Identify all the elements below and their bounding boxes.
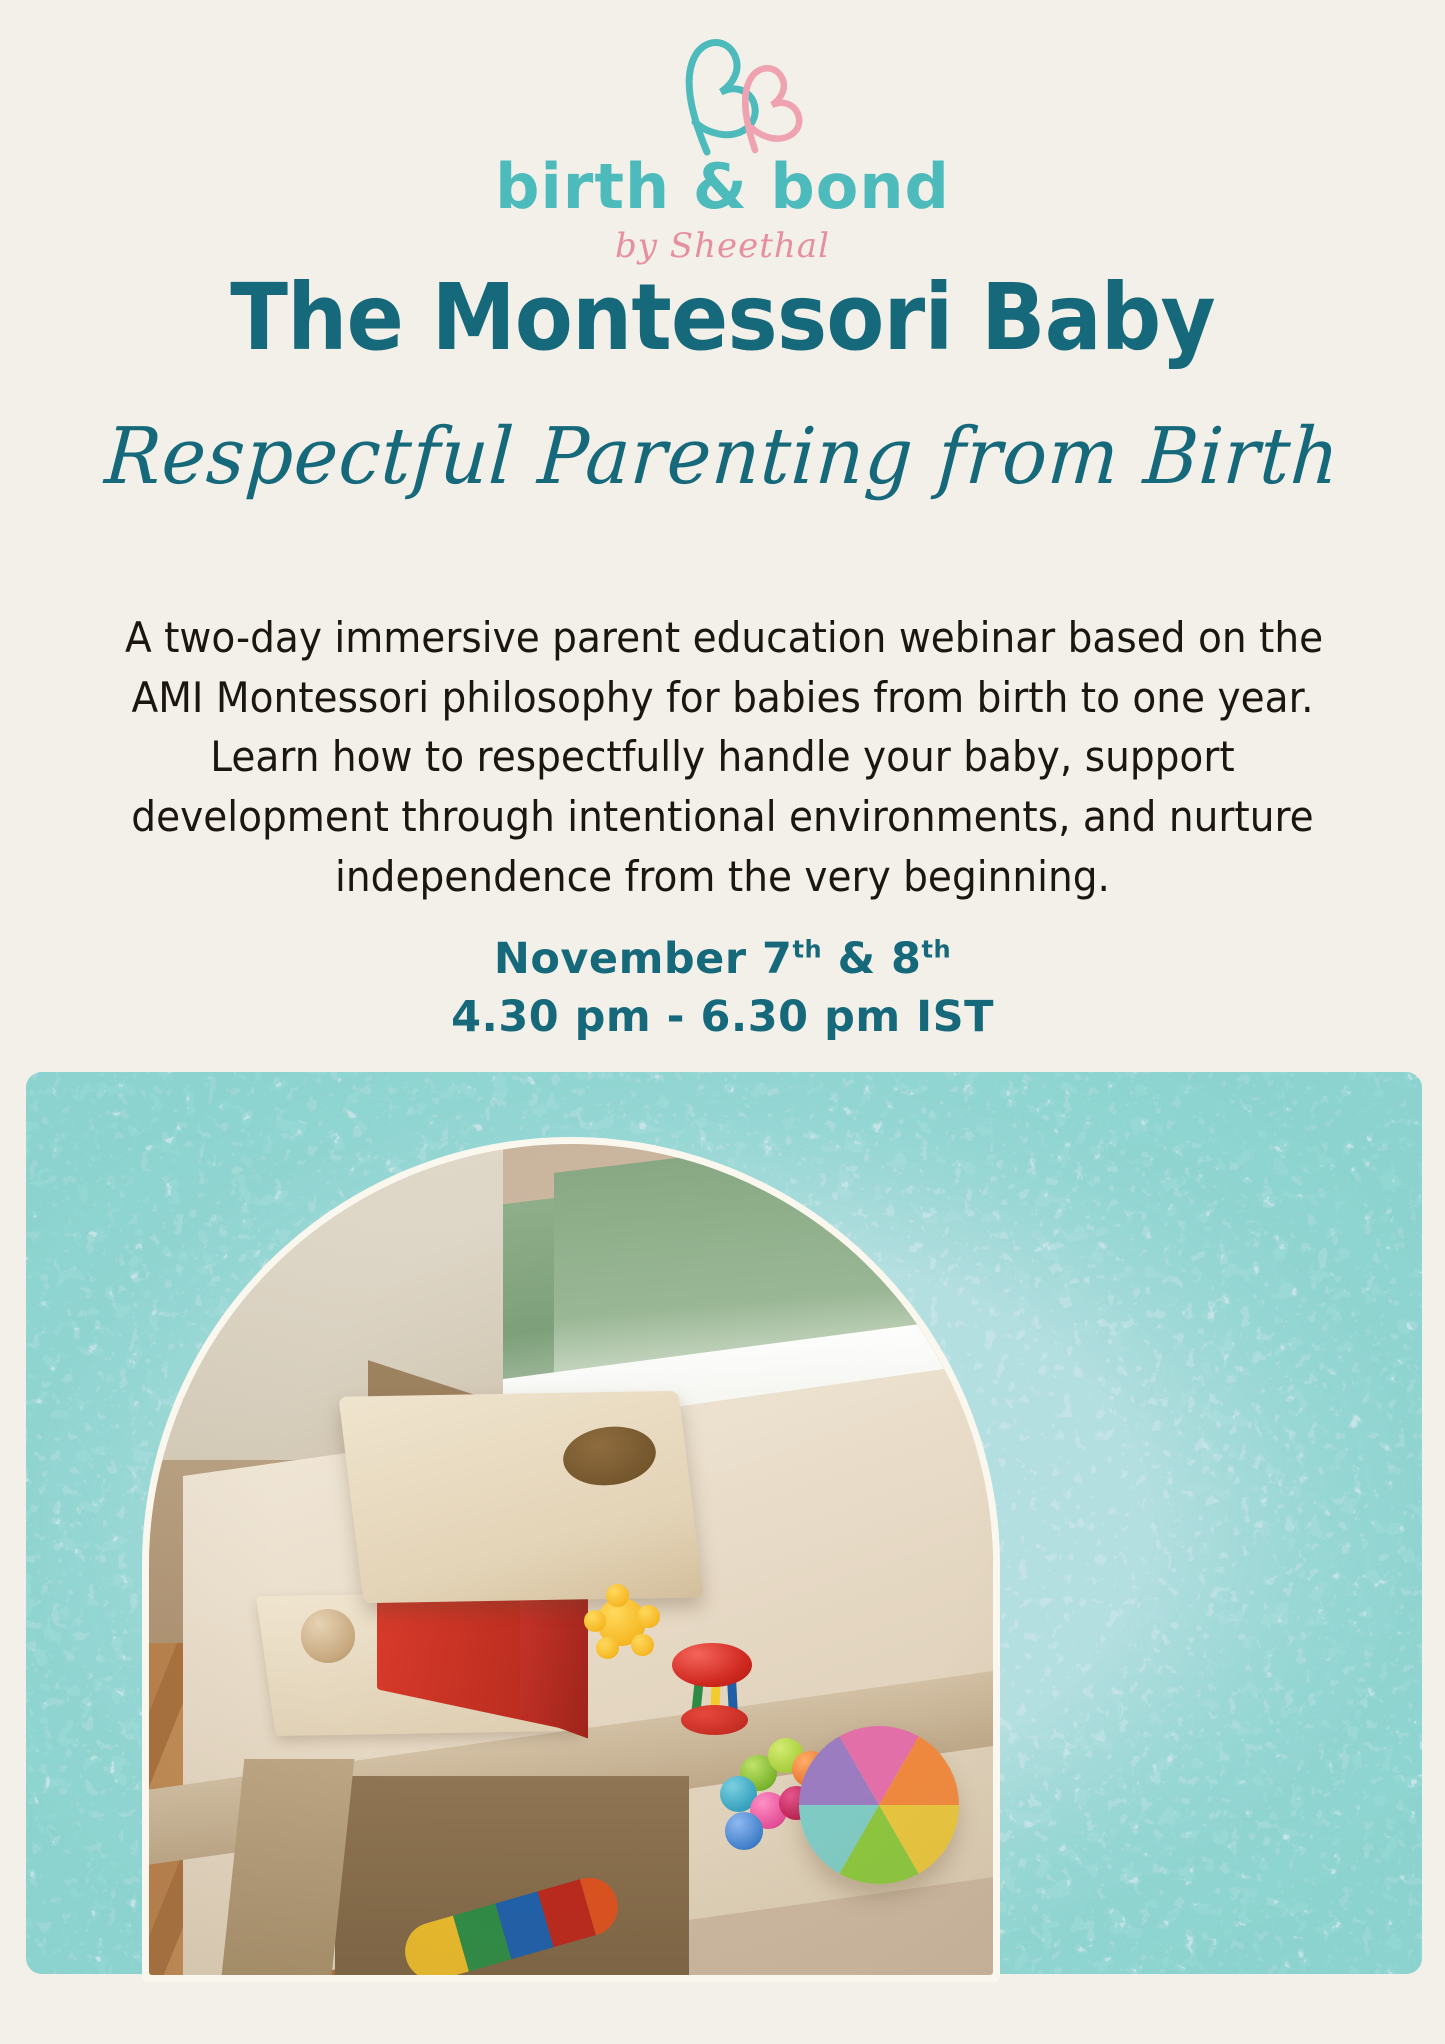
logo-byline: by Sheethal xyxy=(0,226,1445,266)
poster-canvas: birth & bond by Sheethal The Montessori … xyxy=(0,0,1445,2044)
date-day-1: 7 xyxy=(762,934,792,984)
date-day-2: 8 xyxy=(891,934,921,984)
montessori-shelf-photo xyxy=(149,1144,993,1975)
schedule-block: November 7th & 8th 4.30 pm - 6.30 pm IST xyxy=(0,930,1445,1046)
page-title: The Montessori Baby xyxy=(58,272,1387,364)
two-hearts-b-monogram-icon xyxy=(603,22,843,162)
photo-vignette xyxy=(149,1144,993,1975)
date-ordinal-1: th xyxy=(792,936,822,964)
brand-logo-block: birth & bond by Sheethal xyxy=(0,22,1445,266)
description-line: independence from the very beginning. xyxy=(125,847,1320,907)
date-ordinal-2: th xyxy=(921,936,951,964)
date-prefix: November xyxy=(494,934,762,984)
logo-wordmark: birth & bond xyxy=(0,156,1445,218)
date-joiner: & xyxy=(822,934,891,984)
photo-arch-frame xyxy=(142,1137,1000,1982)
description-line: A two-day immersive parent education web… xyxy=(125,608,1320,668)
description-line: Learn how to respectfully handle your ba… xyxy=(125,727,1320,787)
description-line: AMI Montessori philosophy for babies fro… xyxy=(125,668,1320,728)
description-paragraph: A two-day immersive parent education web… xyxy=(125,608,1320,906)
page-subtitle: Respectful Parenting from Birth xyxy=(34,418,1412,496)
event-time: 4.30 pm - 6.30 pm IST xyxy=(0,988,1445,1046)
description-line: development through intentional environm… xyxy=(125,787,1320,847)
event-date: November 7th & 8th xyxy=(0,930,1445,988)
